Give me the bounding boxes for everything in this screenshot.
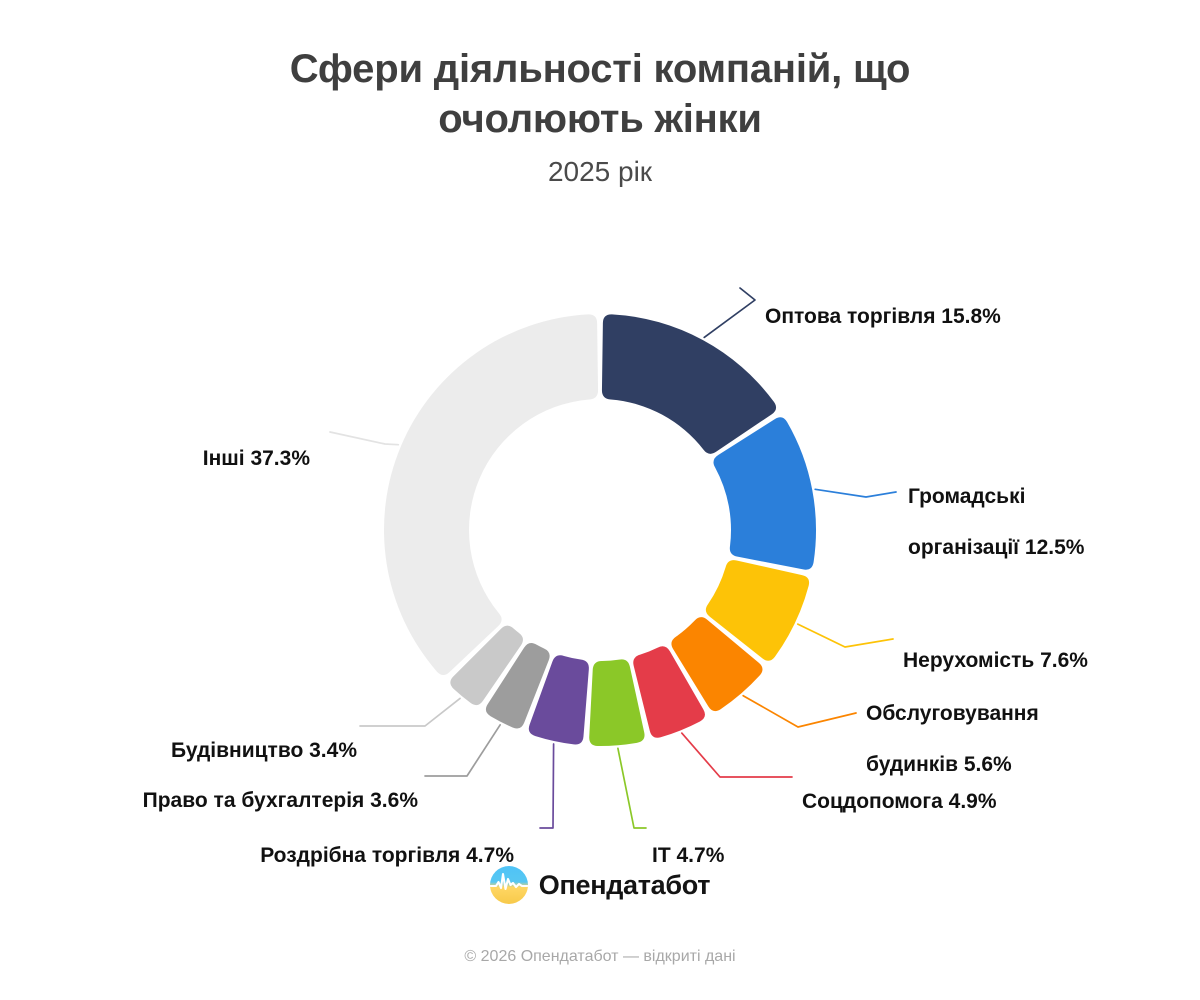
- leader-line: [330, 432, 398, 445]
- slice-label-text: Роздрібна торгівля 4.7%: [260, 844, 514, 867]
- leader-line: [540, 744, 554, 828]
- brand-logo-text: Опендатабот: [539, 870, 710, 901]
- leader-line: [360, 698, 460, 726]
- slice-label-text: Право та бухгалтерія 3.6%: [143, 789, 418, 812]
- slice-label-other: Інші 37.3%: [203, 420, 310, 471]
- leader-line: [425, 725, 500, 776]
- slice-label-text-line-2: організації 12.5%: [908, 535, 1084, 561]
- slice-label-text: Оптова торгівля 15.8%: [765, 305, 1001, 328]
- slice-label-public-organizations: Громадські організації 12.5%: [908, 458, 1084, 586]
- leader-line: [815, 489, 896, 497]
- chart-page: Сфери діяльності компаній, що очолюють ж…: [0, 0, 1200, 1000]
- slice-label-text: Нерухомість 7.6%: [903, 649, 1088, 672]
- slice-label-construction: Будівництво 3.4%: [171, 712, 357, 763]
- slice-label-text-line-1: Обслуговування: [866, 701, 1039, 727]
- slice-label-real-estate: Нерухомість 7.6%: [903, 622, 1088, 673]
- leader-line: [704, 288, 755, 337]
- slice-label-retail-trade: Роздрібна торгівля 4.7%: [260, 817, 514, 868]
- donut-slice[interactable]: [602, 314, 776, 453]
- donut-slice[interactable]: [384, 314, 598, 675]
- slice-label-social-assistance: Соцдопомога 4.9%: [802, 763, 997, 814]
- slice-label-text-line-1: Громадські: [908, 484, 1084, 510]
- leader-line: [743, 696, 856, 727]
- slice-label-text: Будівництво 3.4%: [171, 739, 357, 762]
- brand-logo: Опендатабот: [0, 866, 1200, 904]
- slice-label-law-accounting: Право та бухгалтерія 3.6%: [143, 762, 418, 813]
- slice-label-text: Інші 37.3%: [203, 447, 310, 470]
- slice-label-it: IT 4.7%: [652, 817, 724, 868]
- slice-label-text: IT 4.7%: [652, 844, 724, 867]
- leader-line: [798, 624, 893, 647]
- copyright-text: © 2026 Опендатабот — відкриті дані: [0, 948, 1200, 966]
- slice-label-text: Соцдопомога 4.9%: [802, 790, 997, 813]
- leader-line: [618, 748, 646, 828]
- slice-label-wholesale-trade: Оптова торгівля 15.8%: [765, 278, 1001, 329]
- donut-slices-group: [384, 314, 816, 746]
- opendatabot-logo-icon: [490, 866, 528, 904]
- leader-line: [682, 733, 792, 777]
